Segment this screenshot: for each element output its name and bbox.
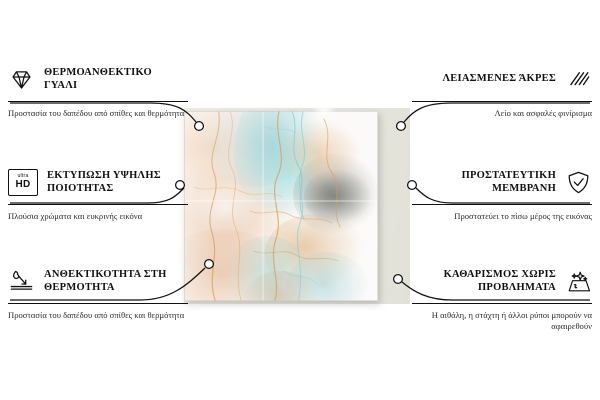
divider <box>412 101 592 102</box>
divider <box>8 303 188 304</box>
feature-header: ΘΕΡΜΟΑΝΘΕΚΤΙΚΟ ΓΥΑΛΙ <box>8 62 188 96</box>
feature-polished-edges: ΛΕΙΑΣΜΕΝΕΣ ΆΚΡΕΣ Λείο και ασφαλές φινίρι… <box>412 62 592 119</box>
divider <box>8 204 188 205</box>
feature-header: ultra HD ΕΚΤΥΠΩΣΗ ΥΨΗΛΗΣ ΠΟΙΟΤΗΤΑΣ <box>8 165 188 199</box>
badge-hd-label: HD <box>15 180 30 190</box>
flame-heat-resistance-icon <box>8 268 35 295</box>
feature-high-quality-print: ultra HD ΕΚΤΥΠΩΣΗ ΥΨΗΛΗΣ ΠΟΙΟΤΗΤΑΣ Πλούσ… <box>8 165 188 222</box>
product-image <box>184 108 410 304</box>
glass-panel <box>184 111 378 301</box>
feature-description: Προστατεύει το πίσω μέρος της εικόνας <box>412 211 592 222</box>
sparkle-clean-icon <box>565 268 592 295</box>
feature-heat-resistant-glass: ΘΕΡΜΟΑΝΘΕΚΤΙΚΟ ΓΥΑΛΙ Προστασία του δαπέδ… <box>8 62 188 119</box>
shield-check-icon <box>565 169 592 196</box>
diamond-icon <box>8 66 35 93</box>
feature-header: ΑΝΘΕΚΤΙΚΟΤΗΤΑ ΣΤΗ ΘΕΡΜΟΤΗΤΑ <box>8 264 188 298</box>
feature-header: ΛΕΙΑΣΜΕΝΕΣ ΆΚΡΕΣ <box>412 62 592 96</box>
feature-title: ΚΑΘΑΡΙΣΜΟΣ ΧΩΡΙΣ ΠΡΟΒΛΗΜΑΤΑ <box>412 268 556 295</box>
feature-header: ΠΡΟΣΤΑΤΕΥΤΙΚΗ ΜΕΜΒΡΑΝΗ <box>412 165 592 199</box>
abstract-ink-artwork <box>184 111 378 301</box>
infographic-canvas: ΘΕΡΜΟΑΝΘΕΚΤΙΚΟ ΓΥΑΛΙ Προστασία του δαπέδ… <box>0 0 600 400</box>
feature-description: Πλούσια χρώματα και ευκρινής εικόνα <box>8 211 188 222</box>
ultra-hd-badge-icon: ultra HD <box>8 169 38 196</box>
feature-description: Προστασία του δαπέδου από σπίθες και θερ… <box>8 108 188 119</box>
feature-protective-film: ΠΡΟΣΤΑΤΕΥΤΙΚΗ ΜΕΜΒΡΑΝΗ Προστατεύει το πί… <box>412 165 592 222</box>
feature-description: Προστασία του δαπέδου από σπίθες και θερ… <box>8 310 188 321</box>
feature-header: ΚΑΘΑΡΙΣΜΟΣ ΧΩΡΙΣ ΠΡΟΒΛΗΜΑΤΑ <box>412 264 592 298</box>
divider <box>412 303 592 304</box>
feature-description: Η αιθάλη, η στάχτη ή άλλοι ρύποι μπορούν… <box>412 310 592 333</box>
feature-heat-resistance: ΑΝΘΕΚΤΙΚΟΤΗΤΑ ΣΤΗ ΘΕΡΜΟΤΗΤΑ Προστασία το… <box>8 264 188 321</box>
feature-description: Λείο και ασφαλές φινίρισμα <box>412 108 592 119</box>
divider <box>412 204 592 205</box>
feature-title: ΛΕΙΑΣΜΕΝΕΣ ΆΚΡΕΣ <box>442 72 556 86</box>
ink-veins <box>184 111 378 301</box>
feature-title: ΘΕΡΜΟΑΝΘΕΚΤΙΚΟ ΓΥΑΛΙ <box>44 66 188 93</box>
polished-edges-icon <box>565 66 592 93</box>
feature-easy-cleaning: ΚΑΘΑΡΙΣΜΟΣ ΧΩΡΙΣ ΠΡΟΒΛΗΜΑΤΑ Η αιθάλη, η … <box>412 264 592 333</box>
feature-title: ΕΚΤΥΠΩΣΗ ΥΨΗΛΗΣ ΠΟΙΟΤΗΤΑΣ <box>47 169 188 196</box>
divider <box>8 101 188 102</box>
feature-title: ΑΝΘΕΚΤΙΚΟΤΗΤΑ ΣΤΗ ΘΕΡΜΟΤΗΤΑ <box>44 268 188 295</box>
feature-title: ΠΡΟΣΤΑΤΕΥΤΙΚΗ ΜΕΜΒΡΑΝΗ <box>412 169 556 196</box>
